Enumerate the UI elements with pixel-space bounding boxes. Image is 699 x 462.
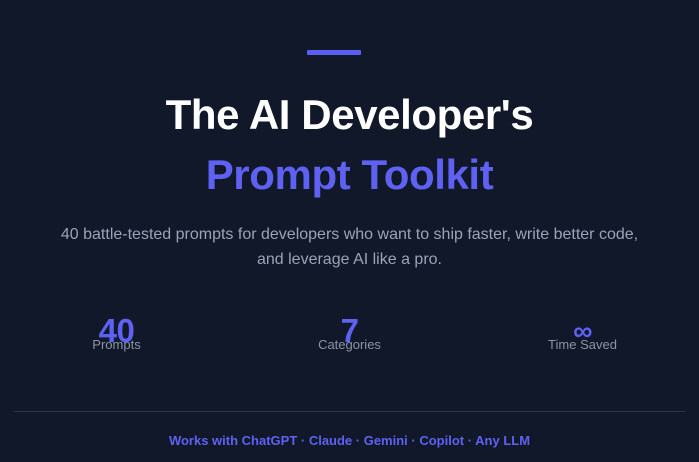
stat-time-saved: ∞ Time Saved [466, 316, 699, 362]
headline-line-2: Prompt Toolkit [0, 148, 699, 202]
page-title: The AI Developer's Prompt Toolkit [0, 88, 699, 202]
subtitle: 40 battle-tested prompts for developers … [0, 222, 699, 272]
stat-label-prompts: Prompts [0, 338, 233, 352]
stats-row: 40 Prompts 7 Categories ∞ Time Saved [0, 316, 699, 362]
accent-divider-bar [307, 50, 361, 55]
footer-divider [14, 411, 685, 412]
stat-label-time-saved: Time Saved [466, 338, 699, 352]
headline-line-1: The AI Developer's [0, 88, 699, 142]
stat-prompts: 40 Prompts [0, 316, 233, 362]
stat-label-categories: Categories [233, 338, 466, 352]
stat-categories: 7 Categories [233, 316, 466, 362]
subtitle-line-1: 40 battle-tested prompts for developers … [0, 222, 699, 247]
subtitle-line-2: and leverage AI like a pro. [0, 247, 699, 272]
hero-page: The AI Developer's Prompt Toolkit 40 bat… [0, 0, 699, 462]
compatibility-footer: Works with ChatGPT · Claude · Gemini · C… [0, 433, 699, 449]
